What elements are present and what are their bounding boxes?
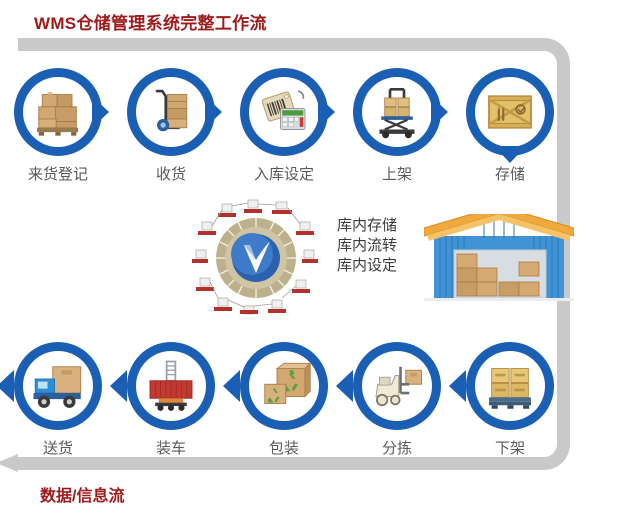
node-label: 来货登记 [10, 163, 106, 184]
node-label: 收货 [123, 163, 219, 184]
palletized-boxes-icon [482, 358, 538, 414]
node-label: 送货 [10, 437, 106, 458]
barcode-tag-scanner-icon [256, 84, 312, 140]
flow-track-top-stub [18, 38, 138, 51]
middle-caption: 库内存储 库内流转 库内设定 [337, 216, 397, 276]
flow-node-top-3[interactable]: 上架 [349, 68, 445, 184]
node-ring [14, 68, 102, 156]
node-ring [127, 342, 215, 430]
flow-node-bottom-1[interactable]: 装车 [123, 342, 219, 458]
node-ring [466, 68, 554, 156]
node-label: 下架 [462, 437, 558, 458]
delivery-truck-icon [30, 358, 86, 414]
node-ring [14, 342, 102, 430]
recycle-carton-box-icon [256, 358, 312, 414]
scissor-lift-boxes-icon [369, 84, 425, 140]
hand-truck-boxes-icon [143, 84, 199, 140]
node-label: 包装 [236, 437, 332, 458]
node-ring [127, 68, 215, 156]
middle-caption-line-1: 库内存储 [337, 216, 397, 236]
page-title: WMS仓储管理系统完整工作流 [34, 9, 267, 34]
node-ring [353, 342, 441, 430]
workflow-diagram: WMS仓储管理系统完整工作流 来货登记 [0, 0, 629, 515]
node-label: 装车 [123, 437, 219, 458]
wooden-crate-icon [482, 84, 538, 140]
flow-track-bottom-stub [18, 457, 138, 470]
middle-caption-line-3: 库内设定 [337, 256, 397, 276]
footer-label: 数据/信息流 [40, 482, 124, 506]
flow-node-bottom-4[interactable]: 下架 [462, 342, 558, 458]
warehouse-building-icon [424, 214, 574, 306]
flow-node-top-2[interactable]: 入库设定 [236, 68, 332, 184]
node-label: 存储 [462, 163, 558, 184]
node-label: 分拣 [349, 437, 445, 458]
node-label: 上架 [349, 163, 445, 184]
node-ring [353, 68, 441, 156]
wms-v-logo-wheel-diagram [192, 198, 320, 318]
flow-node-top-1[interactable]: 收货 [123, 68, 219, 184]
node-ring [240, 68, 328, 156]
shipping-container-icon [143, 358, 199, 414]
flow-node-bottom-3[interactable]: 分拣 [349, 342, 445, 458]
node-label: 入库设定 [236, 163, 332, 184]
flow-node-top-0[interactable]: 来货登记 [10, 68, 106, 184]
middle-caption-line-2: 库内流转 [337, 236, 397, 256]
node-ring [466, 342, 554, 430]
flow-node-bottom-2[interactable]: 包装 [236, 342, 332, 458]
flow-node-bottom-0[interactable]: 送货 [10, 342, 106, 458]
forklift-box-icon [369, 358, 425, 414]
node-ring [240, 342, 328, 430]
stacked-boxes-pallet-icon [30, 84, 86, 140]
flow-node-top-4[interactable]: 存储 [462, 68, 558, 184]
